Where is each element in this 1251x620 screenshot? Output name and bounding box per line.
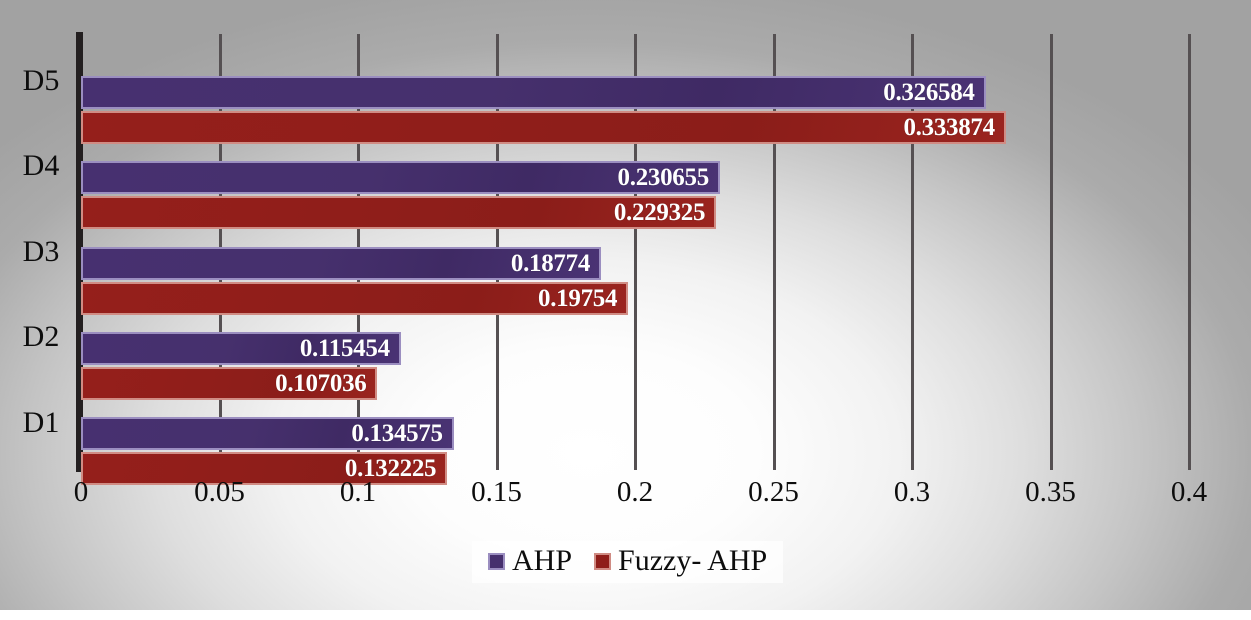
value-tick-label: 0.35 [1025,478,1076,507]
category-label-d1: D1 [8,408,74,438]
value-tick-label: 0.05 [194,478,245,507]
bar-value-label: 0.333874 [903,114,1003,142]
bar-D5-ahp: 0.326584 [81,76,986,109]
value-tick-label: 0.3 [894,478,930,507]
value-tick-label: 0.4 [1171,478,1207,507]
value-tick-label: 0.25 [748,478,799,507]
bar-value-label: 0.19754 [538,285,626,313]
chart-bottom-strip [0,612,1251,620]
bar-value-label: 0.229325 [614,199,714,227]
legend-label-ahp: AHP [512,546,572,576]
value-tick-label: 0 [74,478,89,507]
bar-value-label: 0.134575 [351,420,451,448]
legend-item-fuzzy-ahp: Fuzzy- AHP [594,546,767,576]
bar-D4-ahp: 0.230655 [81,161,720,194]
value-tick-label: 0.15 [471,478,522,507]
bar-value-label: 0.115454 [300,335,399,363]
value-tick-label: 0.1 [340,478,376,507]
legend-swatch-icon-ahp [488,553,505,570]
bar-value-label: 0.326584 [883,79,983,107]
bar-D4-fahp: 0.229325 [81,196,716,229]
bar-D2-ahp: 0.115454 [81,332,401,365]
bar-value-label: 0.18774 [511,250,599,278]
legend-item-ahp: AHP [488,546,572,576]
bar-series-layer: 0.1345750.1322250.1154540.1070360.187740… [81,34,1189,470]
bar-D1-ahp: 0.134575 [81,417,454,450]
bar-D2-fahp: 0.107036 [81,367,377,400]
category-label-d4: D4 [8,151,74,181]
bar-D5-fahp: 0.333874 [81,111,1006,144]
category-label-d5: D5 [8,66,74,96]
bar-chart: D5 D4 D3 D2 D1 0.1345750.1322250.1154540… [0,0,1251,620]
bar-D3-fahp: 0.19754 [81,282,628,315]
bar-D1-fahp: 0.132225 [81,452,447,485]
value-tick-label: 0.2 [617,478,653,507]
bar-value-label: 0.107036 [275,370,375,398]
category-label-d3: D3 [8,237,74,267]
bar-value-label: 0.230655 [618,164,718,192]
bar-D3-ahp: 0.18774 [81,247,601,280]
chart-legend: AHP Fuzzy- AHP [472,541,783,583]
legend-swatch-icon-fuzzy-ahp [594,553,611,570]
legend-label-fuzzy-ahp: Fuzzy- AHP [618,546,767,576]
category-label-d2: D2 [8,322,74,352]
